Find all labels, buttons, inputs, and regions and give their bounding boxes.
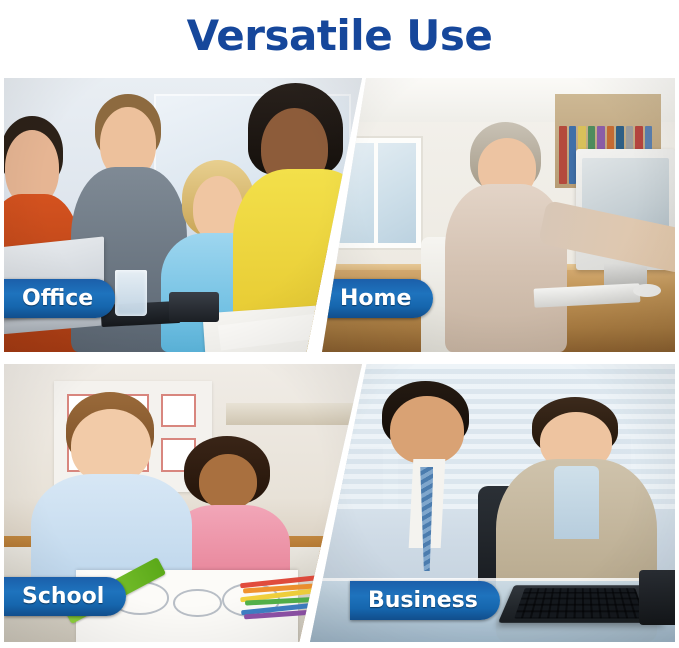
book: [569, 126, 576, 184]
badge-school[interactable]: School: [4, 577, 126, 616]
badge-school-label: School: [22, 586, 104, 608]
badge-office-label: Office: [22, 288, 93, 310]
home-mouse: [633, 284, 661, 298]
versatile-use-infographic: Versatile Use: [0, 0, 679, 648]
badge-home[interactable]: Home: [322, 279, 433, 318]
blouse: [554, 466, 598, 539]
head: [199, 454, 257, 509]
business-keyboard: [498, 585, 662, 622]
panel-grid: Office: [0, 74, 679, 648]
page-title-bar: Versatile Use: [0, 0, 679, 72]
business-desk-phone: [639, 570, 676, 626]
doodle: [173, 589, 222, 618]
panel-business[interactable]: Business: [310, 364, 675, 642]
badge-office[interactable]: Office: [4, 279, 115, 318]
home-window-mullion: [374, 143, 378, 243]
badge-home-label: Home: [340, 288, 411, 310]
business-keyboard-keys: [514, 588, 645, 618]
head: [71, 409, 151, 483]
office-water-glass: [115, 270, 147, 317]
badge-business[interactable]: Business: [350, 581, 500, 620]
badge-business-label: Business: [368, 590, 478, 612]
panel-school[interactable]: School: [4, 364, 362, 642]
panel-office[interactable]: Office: [4, 78, 362, 352]
panel-home[interactable]: Home: [322, 78, 675, 352]
office-stapler: [169, 292, 219, 322]
page-title: Versatile Use: [187, 15, 493, 57]
school-shelf: [226, 403, 355, 425]
